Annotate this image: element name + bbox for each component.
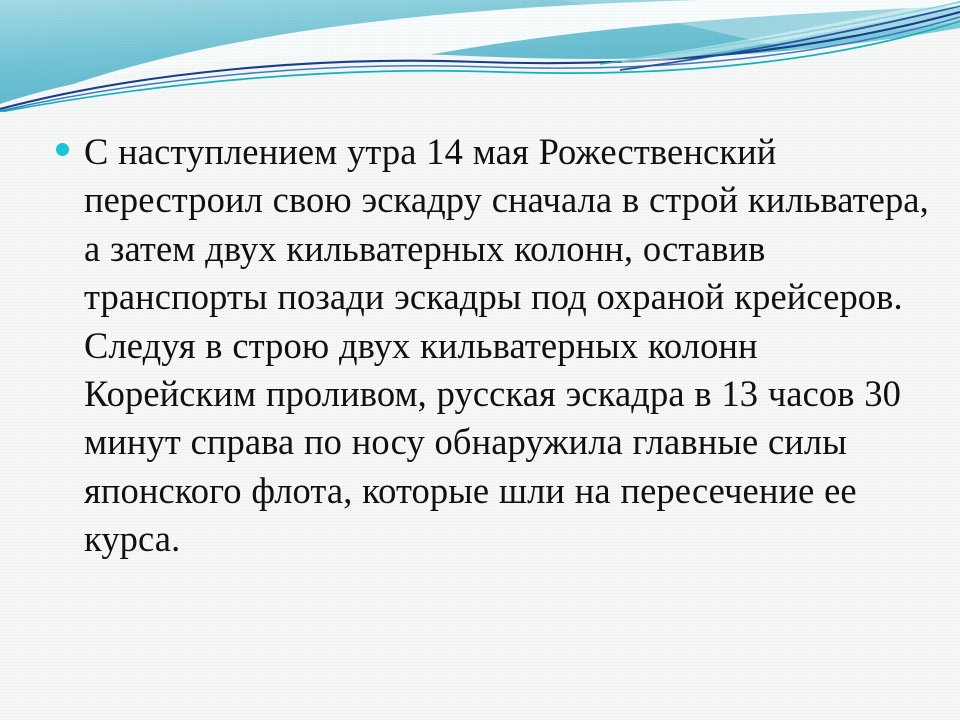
- slide-body-content: С наступлением утра 14 мая Рожественский…: [56, 128, 936, 564]
- decorative-wave-banner: [0, 0, 960, 112]
- presentation-slide: С наступлением утра 14 мая Рожественский…: [0, 0, 960, 720]
- list-item: С наступлением утра 14 мая Рожественский…: [56, 128, 936, 564]
- bullet-paragraph-text: С наступлением утра 14 мая Рожественский…: [84, 128, 936, 564]
- bullet-marker-icon: [56, 143, 69, 156]
